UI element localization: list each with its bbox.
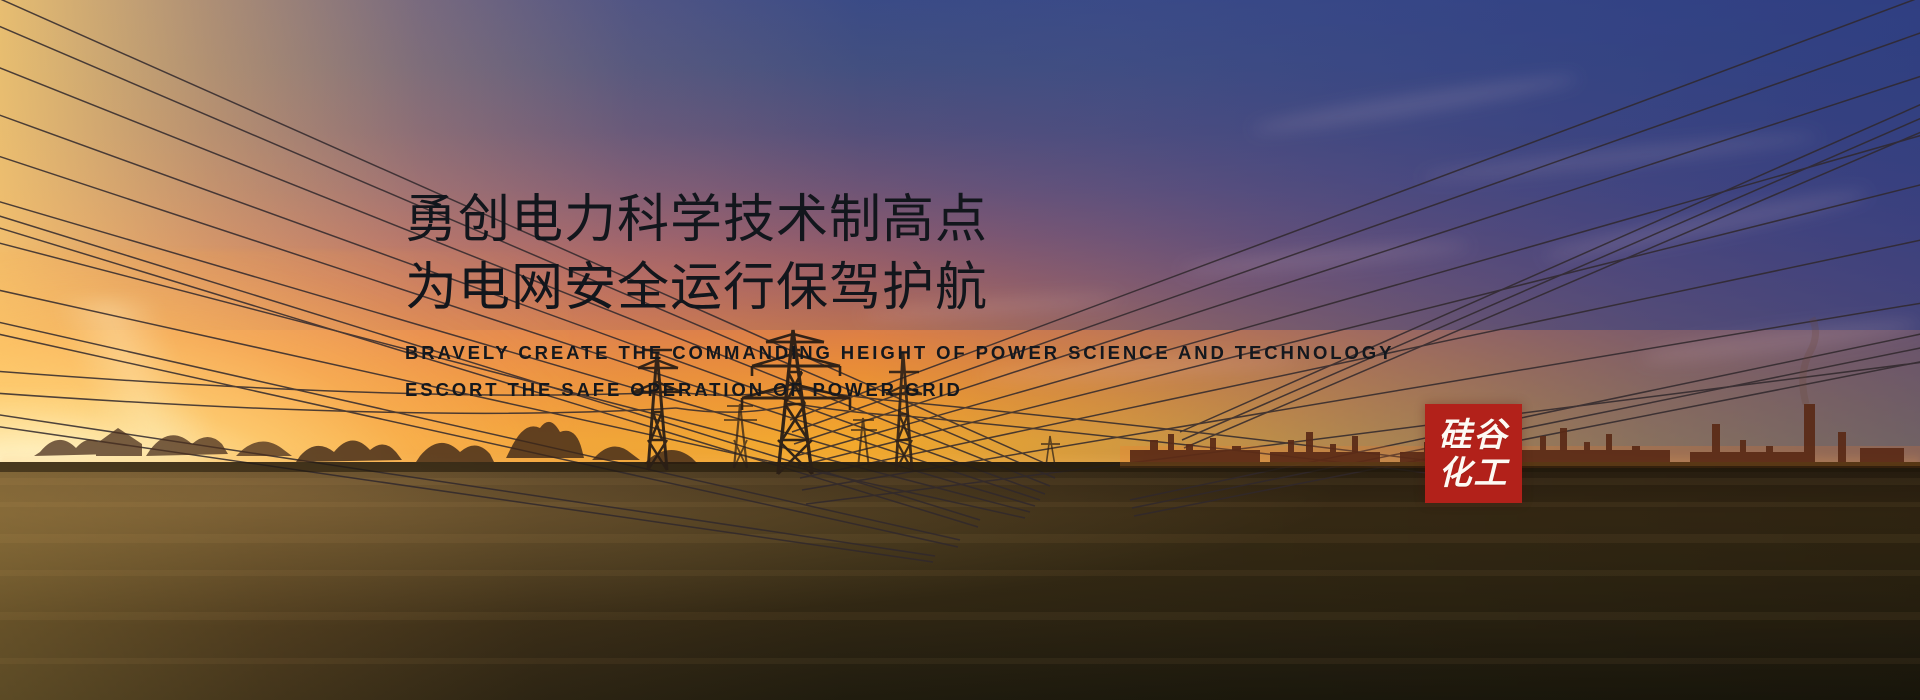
- center-treeline: [296, 422, 698, 464]
- left-treeline: [34, 428, 292, 456]
- logo-text-line-1: 硅谷: [1439, 416, 1509, 454]
- banner-text-block: 勇创电力科学技术制高点 为电网安全运行保驾护航 BRAVELY CREATE T…: [405, 186, 1505, 408]
- subheadline-line-2: ESCORT THE SAFE OPERATION OF POWER GRID: [405, 371, 1505, 408]
- headline-line-1: 勇创电力科学技术制高点: [405, 186, 1505, 254]
- pylon-distant: [724, 404, 1060, 468]
- headline-line-2: 为电网安全运行保驾护航: [405, 254, 1505, 322]
- company-logo-seal[interactable]: 硅谷 化工: [1425, 404, 1522, 503]
- logo-text-line-2: 化工: [1439, 454, 1509, 492]
- hero-banner: 勇创电力科学技术制高点 为电网安全运行保驾护航 BRAVELY CREATE T…: [0, 0, 1920, 700]
- subheadline-line-1: BRAVELY CREATE THE COMMANDING HEIGHT OF …: [405, 334, 1505, 371]
- subheadline-block: BRAVELY CREATE THE COMMANDING HEIGHT OF …: [405, 334, 1505, 408]
